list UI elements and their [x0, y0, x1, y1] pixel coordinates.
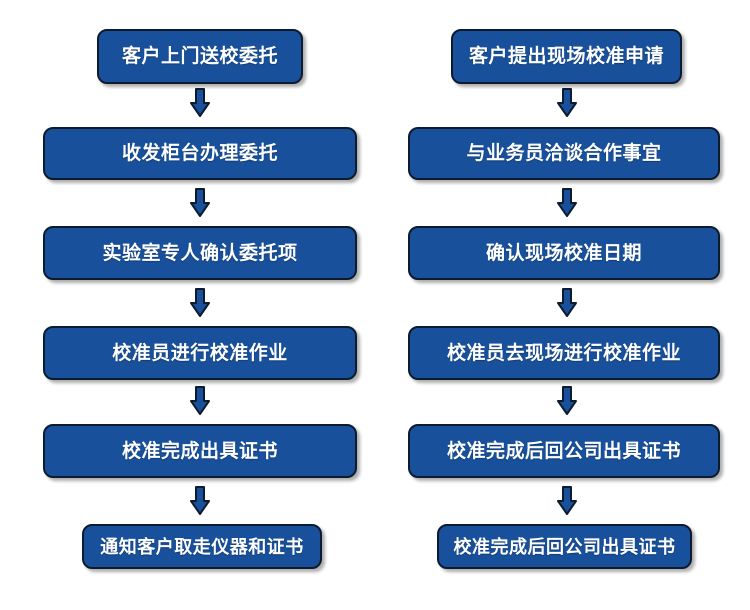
- flow-arrow-down-icon-ra5: [556, 486, 578, 516]
- flow-node-label: 与业务员洽谈合作事宜: [466, 144, 661, 163]
- flow-arrow-down-icon-ra2: [556, 188, 578, 218]
- flow-arrow-down-icon-la1: [189, 88, 211, 118]
- flow-column-left: 客户上门送校委托 收发柜台办理委托 实验室专人确认委托项 校准员进行校准作业: [0, 0, 375, 610]
- flow-node-r6[interactable]: 校准完成后回公司出具证书: [437, 524, 692, 569]
- flow-node-label: 校准完成后回公司出具证书: [447, 442, 681, 461]
- flow-node-r2[interactable]: 与业务员洽谈合作事宜: [408, 127, 720, 180]
- flow-node-label: 客户提出现场校准申请: [469, 47, 664, 66]
- flow-node-label: 实验室专人确认委托项: [102, 244, 297, 263]
- flow-node-r4[interactable]: 校准员去现场进行校准作业: [408, 326, 720, 380]
- flow-node-label: 收发柜台办理委托: [122, 144, 278, 163]
- flow-node-label: 通知客户取走仪器和证书: [100, 538, 304, 556]
- flow-arrow-down-icon-ra3: [556, 288, 578, 318]
- flow-node-l1[interactable]: 客户上门送校委托: [97, 29, 303, 84]
- flow-node-r3[interactable]: 确认现场校准日期: [408, 226, 720, 280]
- flow-node-l3[interactable]: 实验室专人确认委托项: [43, 226, 357, 280]
- flowchart-canvas: 客户上门送校委托 收发柜台办理委托 实验室专人确认委托项 校准员进行校准作业: [0, 0, 750, 610]
- flow-arrow-down-icon-la4: [189, 386, 211, 416]
- flow-node-r1[interactable]: 客户提出现场校准申请: [451, 29, 682, 84]
- flow-node-label: 客户上门送校委托: [122, 47, 278, 66]
- flow-node-label: 校准员进行校准作业: [112, 344, 288, 363]
- flow-node-label: 校准完成出具证书: [122, 442, 278, 461]
- flow-node-l6[interactable]: 通知客户取走仪器和证书: [82, 524, 322, 569]
- flow-arrow-down-icon-la3: [189, 288, 211, 318]
- flow-node-label: 校准员去现场进行校准作业: [447, 344, 681, 363]
- flow-node-l5[interactable]: 校准完成出具证书: [43, 424, 357, 478]
- flow-node-label: 校准完成后回公司出具证书: [454, 538, 676, 556]
- flow-arrow-down-icon-ra4: [556, 386, 578, 416]
- flow-arrow-down-icon-la5: [189, 486, 211, 516]
- flow-arrow-down-icon-la2: [189, 188, 211, 218]
- flow-node-label: 确认现场校准日期: [486, 244, 642, 263]
- flow-node-l2[interactable]: 收发柜台办理委托: [43, 127, 357, 180]
- flow-column-right: 客户提出现场校准申请 与业务员洽谈合作事宜 确认现场校准日期 校准员去现场进行校…: [375, 0, 750, 610]
- flow-arrow-down-icon-ra1: [556, 88, 578, 118]
- flow-node-l4[interactable]: 校准员进行校准作业: [43, 326, 357, 380]
- flow-node-r5[interactable]: 校准完成后回公司出具证书: [408, 424, 720, 478]
